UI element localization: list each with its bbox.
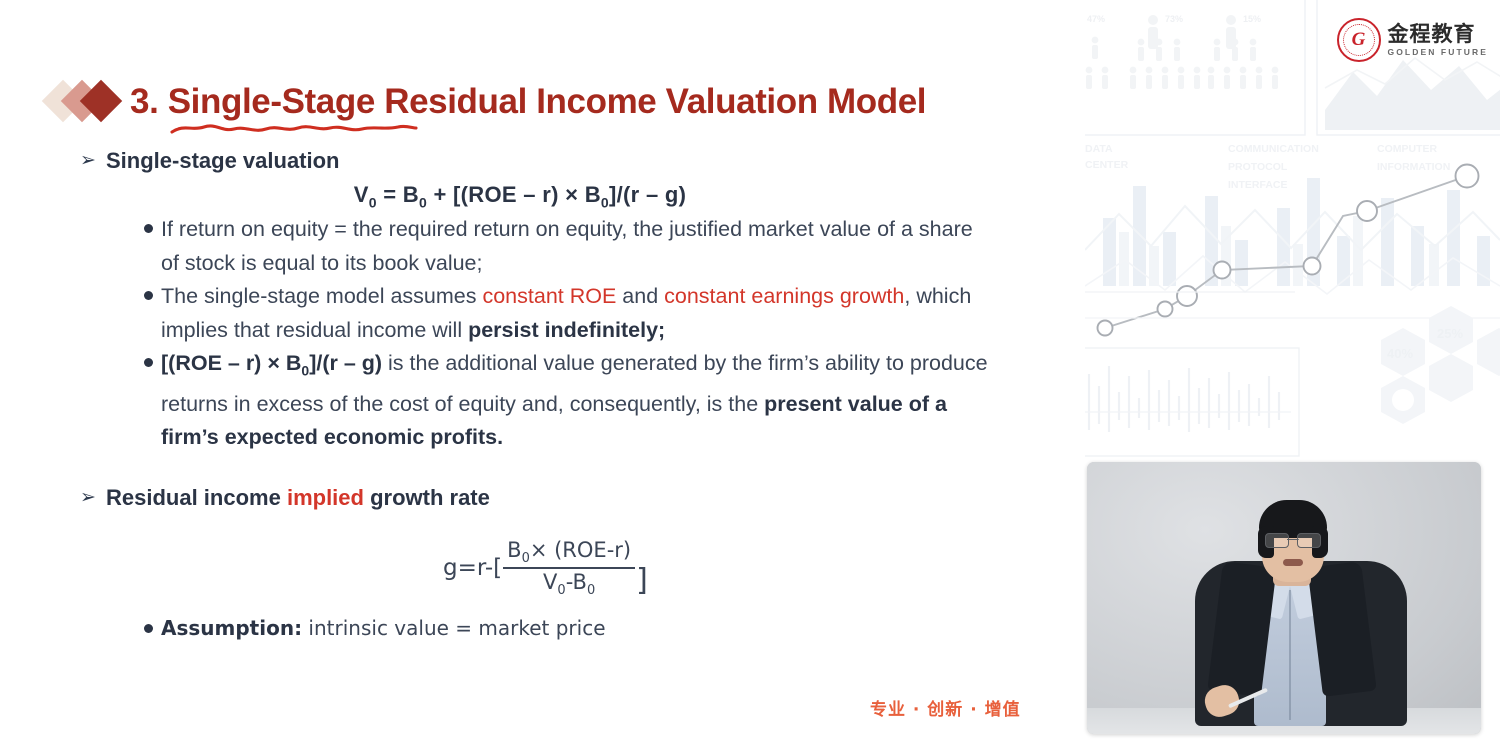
assumption-label: Assumption: xyxy=(161,616,302,640)
seg-highlight-constant-roe: constant ROE xyxy=(482,284,616,308)
svg-text:CENTER: CENTER xyxy=(1085,159,1129,171)
formula-v: V xyxy=(354,182,369,207)
seg-normal-1: The single-stage model assumes xyxy=(161,284,482,308)
formula-b2-sub: 0 xyxy=(601,194,609,210)
list-item: If return on equity = the required retur… xyxy=(135,213,980,280)
bullet-text-constant: The single-stage model assumes constant … xyxy=(161,280,995,347)
formula-b: B xyxy=(403,182,419,207)
page-title: 3. Single-Stage Residual Income Valuatio… xyxy=(130,84,926,119)
den-v-sub: 0 xyxy=(557,583,565,598)
svg-text:73%: 73% xyxy=(1165,14,1183,24)
dot-bullet-icon xyxy=(135,613,161,633)
formula-implied-growth: g=r-[ B0× (ROE-r) V0-B0 ] xyxy=(443,538,648,598)
bullet-text-equity: If return on equity = the required retur… xyxy=(161,213,980,280)
seg-normal-2: and xyxy=(616,284,664,308)
bullet-text-additional-value: [(ROE – r) × B0]/(r – g) is the addition… xyxy=(161,347,1005,455)
formula-growth-lead: g=r-[ xyxy=(443,555,502,581)
list-item: [(ROE – r) × B0]/(r – g) is the addition… xyxy=(135,347,1005,455)
footer-tagline: 专业 · 创新 · 增值 xyxy=(870,695,1021,720)
list-item: The single-stage model assumes constant … xyxy=(135,280,995,347)
formula-eq: = xyxy=(377,182,403,207)
logo-seal-letter: G xyxy=(1339,20,1379,60)
svg-text:15%: 15% xyxy=(1243,14,1261,24)
inline-formula-times-icon: × xyxy=(267,351,280,375)
formula-tail: ]/(r – g) xyxy=(609,182,686,207)
formula-fraction: B0× (ROE-r) V0-B0 xyxy=(503,538,635,598)
heading-single-stage-valuation: ➢ Single-stage valuation xyxy=(80,148,340,174)
svg-text:47%: 47% xyxy=(1087,14,1105,24)
formula-growth-close: ] xyxy=(636,566,648,596)
inline-formula-open: [(ROE – r) xyxy=(161,351,267,375)
logo-name-cn: 金程教育 xyxy=(1388,24,1489,45)
fraction-denominator: V0-B0 xyxy=(539,569,599,598)
brand-logo: G 金程教育 GOLDEN FUTURE xyxy=(1337,18,1489,62)
logo-seal-icon: G xyxy=(1337,18,1381,62)
formula-b-sub: 0 xyxy=(419,194,427,210)
den-rest: -B xyxy=(566,570,587,594)
slide-content: 3. Single-Stage Residual Income Valuatio… xyxy=(0,0,1060,750)
logo-text: 金程教育 GOLDEN FUTURE xyxy=(1388,24,1489,57)
num-rest: × (ROE-r) xyxy=(530,538,631,562)
title-underline-squiggle-icon xyxy=(170,118,418,140)
svg-text:COMPUTER: COMPUTER xyxy=(1377,143,1438,155)
dot-bullet-icon xyxy=(135,213,161,233)
instructor-mouth xyxy=(1283,559,1303,566)
heading-label: Single-stage valuation xyxy=(106,148,340,174)
heading-label: Residual income implied growth rate xyxy=(106,485,490,511)
right-panel: 47%73%15% DATA CENTER COMMUNICATION PROT… xyxy=(1060,0,1500,750)
instructor-video[interactable] xyxy=(1087,462,1481,734)
arrow-bullet-icon: ➢ xyxy=(80,148,106,174)
seg-normal-1: Residual income xyxy=(106,485,287,510)
inline-formula-b: B xyxy=(280,351,302,375)
svg-text:25%: 25% xyxy=(1437,326,1463,341)
formula-times-icon: × xyxy=(565,182,578,207)
inline-formula-close: ]/(r – g) xyxy=(309,351,382,375)
slide-root: 3. Single-Stage Residual Income Valuatio… xyxy=(0,0,1500,750)
bullet-text-assumption: Assumption: intrinsic value = market pri… xyxy=(161,613,606,643)
heading-implied-growth-rate: ➢ Residual income implied growth rate xyxy=(80,485,490,511)
logo-name-en: GOLDEN FUTURE xyxy=(1388,48,1489,57)
list-item: Assumption: intrinsic value = market pri… xyxy=(135,613,735,643)
svg-text:PROTOCOL: PROTOCOL xyxy=(1228,161,1288,173)
diamond-decoration-icon xyxy=(48,78,126,124)
arrow-bullet-icon: ➢ xyxy=(80,485,106,511)
seg-normal-2: growth rate xyxy=(364,485,490,510)
formula-b2: B xyxy=(578,182,601,207)
seg-highlight-constant-earnings-growth: constant earnings growth xyxy=(664,284,904,308)
num-b: B xyxy=(507,538,521,562)
instructor-shirt-placket xyxy=(1289,590,1291,720)
num-b-sub: 0 xyxy=(522,551,530,566)
svg-text:40%: 40% xyxy=(1387,346,1413,361)
background-art-svg: 47%73%15% DATA CENTER COMMUNICATION PROT… xyxy=(1085,0,1500,460)
svg-text:INTERFACE: INTERFACE xyxy=(1228,179,1288,191)
dot-bullet-icon xyxy=(135,347,161,367)
background-artwork: 47%73%15% DATA CENTER COMMUNICATION PROT… xyxy=(1085,0,1500,460)
instructor-glasses-icon xyxy=(1265,533,1321,546)
assumption-text: intrinsic value = market price xyxy=(302,616,605,640)
formula-plus: + [(ROE – r) xyxy=(427,182,565,207)
seg-highlight-implied: implied xyxy=(287,485,364,510)
dot-bullet-icon xyxy=(135,280,161,300)
svg-text:INFORMATION: INFORMATION xyxy=(1377,161,1450,173)
den-v: V xyxy=(543,570,557,594)
formula-valuation: V0 = B0 + [(ROE – r) × B0]/(r – g) xyxy=(0,182,1040,210)
svg-text:DATA: DATA xyxy=(1085,143,1113,155)
den-b-sub: 0 xyxy=(587,583,595,598)
seg-bold-persist: persist indefinitely; xyxy=(468,318,665,342)
svg-text:COMMUNICATION: COMMUNICATION xyxy=(1228,143,1319,155)
formula-v-sub: 0 xyxy=(369,194,377,210)
fraction-numerator: B0× (ROE-r) xyxy=(503,538,635,567)
